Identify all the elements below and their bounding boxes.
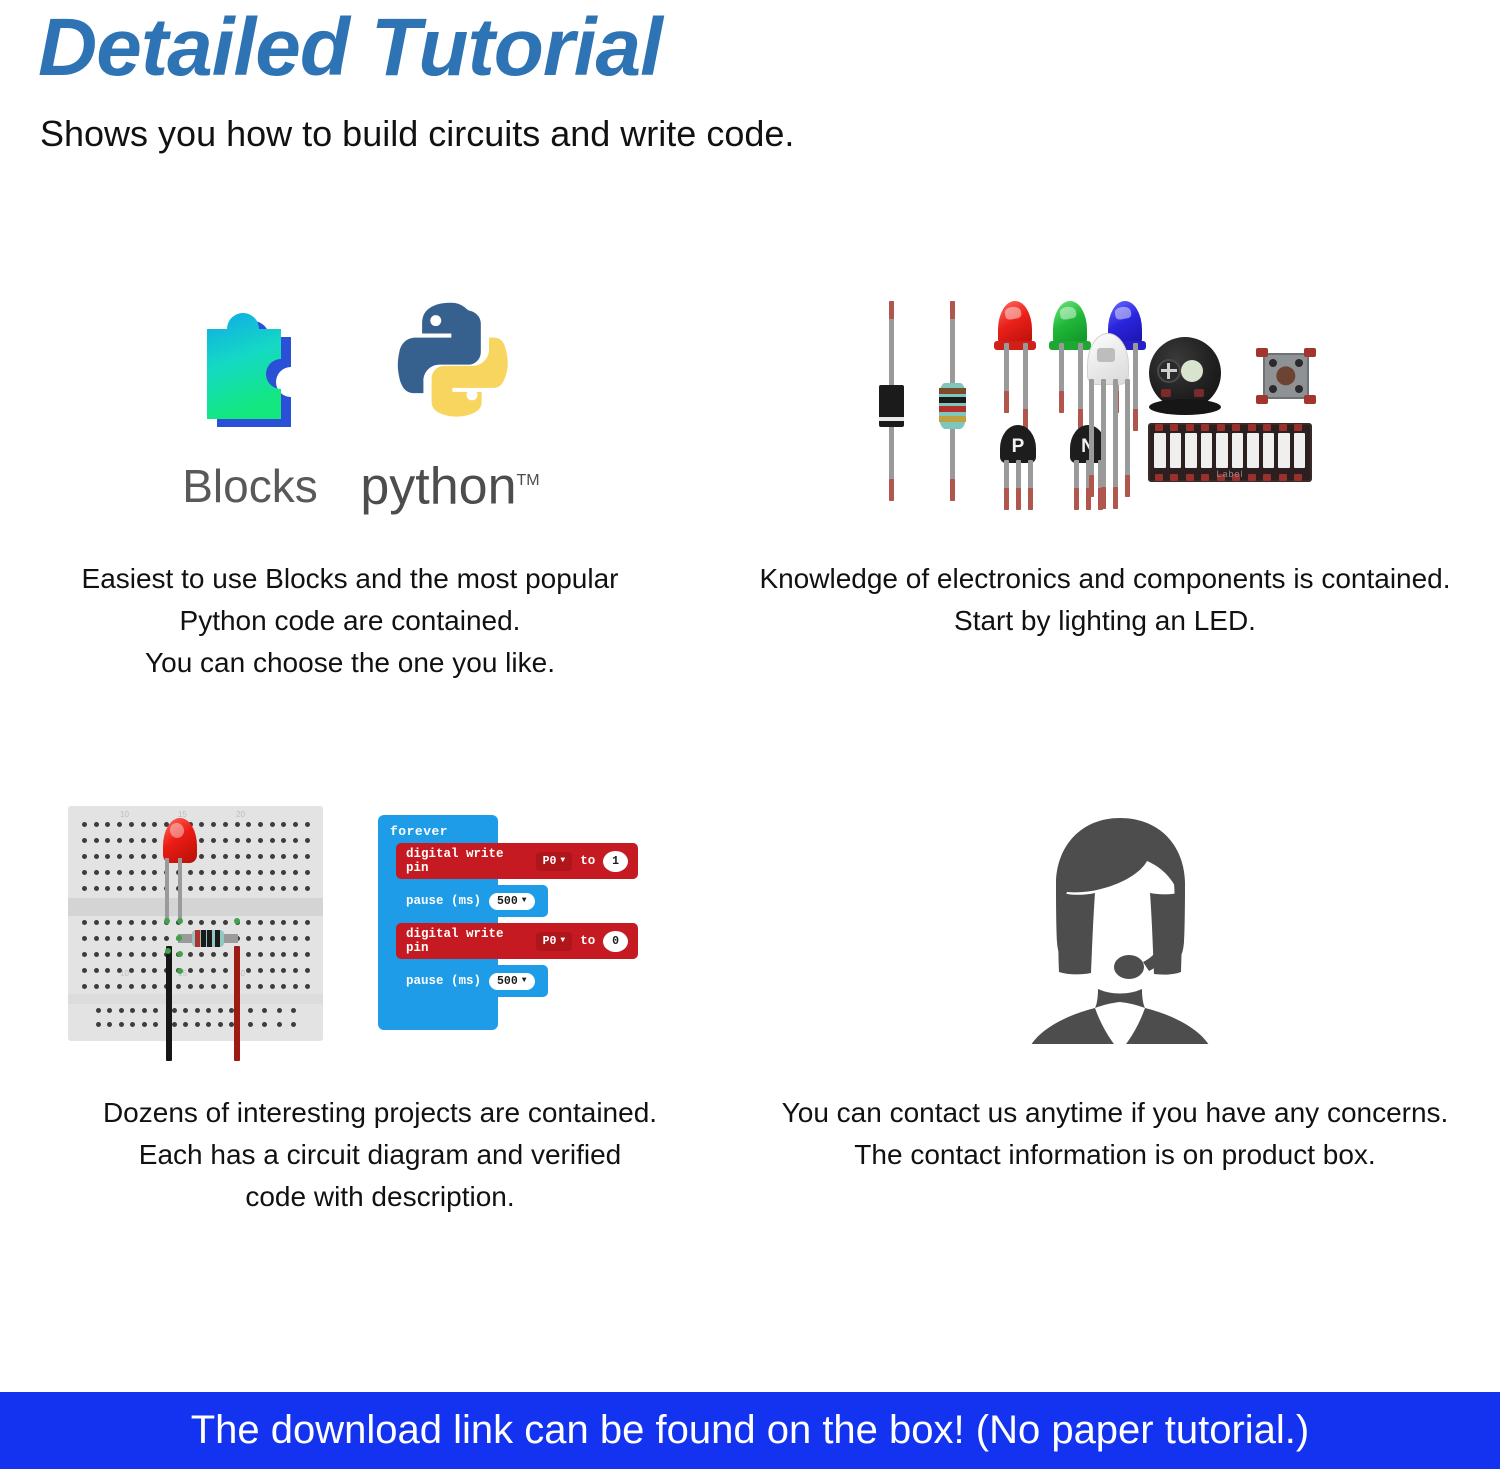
support-caption: You can contact us anytime if you have a…: [760, 1092, 1470, 1176]
digital-write-value[interactable]: 1: [603, 851, 628, 872]
digital-write-value[interactable]: 0: [603, 931, 628, 952]
resistor-body: [939, 383, 966, 429]
breadboard-center-channel: [68, 898, 323, 916]
chevron-down-icon: ▼: [560, 857, 565, 865]
tactile-button-cap: [1276, 366, 1295, 385]
breadboard-hole-row: [82, 984, 310, 989]
caption-line: You can contact us anytime if you have a…: [760, 1092, 1470, 1134]
caption-line: Each has a circuit diagram and verified: [60, 1134, 700, 1176]
blocks-puzzle-icon: [175, 295, 325, 455]
digital-write-block[interactable]: digital write pin P0▼ to 0: [396, 923, 638, 959]
digital-write-label: digital write pin: [406, 847, 528, 875]
caption-line: Dozens of interesting projects are conta…: [60, 1092, 700, 1134]
pause-block[interactable]: pause (ms) 500▼: [396, 885, 548, 917]
blue-led-lead: [1133, 343, 1138, 431]
digital-write-block[interactable]: digital write pin P0▼ to 1: [396, 843, 638, 879]
python-logo-text: python: [360, 457, 516, 515]
pin-dropdown[interactable]: P0▼: [536, 932, 573, 951]
support-agent-glyph: [1000, 812, 1240, 1044]
rgb-led-lead: [1113, 379, 1118, 509]
python-trademark: TM: [517, 472, 540, 489]
pnp-lead: [1004, 460, 1009, 510]
caption-line: code with description.: [60, 1176, 700, 1218]
tutorial-page: Detailed Tutorial Shows you how to build…: [0, 0, 1500, 1469]
pnp-lead: [1016, 460, 1021, 510]
chevron-down-icon: ▼: [560, 937, 565, 945]
forever-block-label: forever: [390, 824, 448, 839]
red-led-lead: [1023, 343, 1028, 431]
programming-logos-group: Blocks pythonTM: [150, 295, 580, 510]
caption-line: Start by lighting an LED.: [740, 600, 1470, 642]
breadboard-hole-row: [82, 968, 310, 973]
red-led-lead: [1004, 343, 1009, 413]
to-label: to: [580, 854, 595, 868]
pause-label: pause (ms): [406, 974, 481, 988]
pnp-lead: [1028, 460, 1033, 510]
caption-line: Python code are contained.: [40, 600, 660, 642]
caption-line: Easiest to use Blocks and the most popul…: [40, 558, 660, 600]
pin-dropdown[interactable]: P0▼: [536, 852, 573, 871]
python-logo: pythonTM: [355, 295, 545, 510]
caption-line: The contact information is on product bo…: [760, 1134, 1470, 1176]
rgb-led-dome: [1087, 333, 1127, 383]
rgb-led-lead: [1101, 379, 1106, 509]
green-led: [1053, 301, 1087, 347]
green-led-lead: [1078, 343, 1083, 431]
breadboard-hole-row: [82, 920, 310, 925]
page-subtitle: Shows you how to build circuits and writ…: [40, 108, 794, 160]
rgb-led-lead: [1089, 379, 1094, 497]
download-banner: The download link can be found on the bo…: [0, 1392, 1500, 1469]
breadboard-rail-row: [172, 1022, 234, 1027]
rgb-led-lead: [1125, 379, 1130, 497]
breadboard-hole-row: [82, 952, 310, 957]
led-bar-graph: Label: [1148, 423, 1312, 482]
buzzer: [1149, 337, 1221, 409]
led-anode-leg: [165, 858, 169, 920]
breadboard-rail-row: [96, 1022, 158, 1027]
blocks-python-caption: Easiest to use Blocks and the most popul…: [40, 558, 660, 684]
pnp-transistor: P: [1000, 425, 1036, 463]
diode-cathode-band: [879, 417, 904, 421]
breadboard-resistor: [178, 934, 238, 943]
pause-value-dropdown[interactable]: 500▼: [489, 973, 535, 990]
green-led-lead: [1059, 343, 1064, 413]
pause-value: 500: [497, 895, 518, 908]
caption-line: You can choose the one you like.: [40, 642, 660, 684]
pause-block[interactable]: pause (ms) 500▼: [396, 965, 548, 997]
download-banner-text: The download link can be found on the bo…: [0, 1392, 1500, 1469]
to-label: to: [580, 934, 595, 948]
black-jumper-wire: [166, 946, 172, 1061]
breadboard-rail-row: [248, 1022, 296, 1027]
blocks-logo: Blocks: [175, 295, 325, 510]
python-snake-icon: [355, 295, 545, 450]
electronic-components-group: P N: [865, 295, 1285, 510]
breadboard-rail-row: [96, 1008, 158, 1013]
pause-label: pause (ms): [406, 894, 481, 908]
breadboard-red-led: [163, 818, 197, 863]
breadboard-hole-row: [82, 886, 310, 891]
breadboard-led-circuit: 10 15 20 10 15 20: [68, 806, 323, 1041]
pause-value: 500: [497, 975, 518, 988]
python-logo-label: pythonTM: [355, 457, 545, 510]
breadboard-column-number: 20: [236, 810, 245, 819]
breadboard-hole-row: [82, 870, 310, 875]
buzzer-polarity-mark: [1157, 359, 1181, 383]
pnp-transistor-label: P: [1000, 436, 1036, 458]
led-bar-label: Label: [1150, 469, 1310, 479]
chevron-down-icon: ▼: [522, 897, 527, 905]
npn-lead: [1074, 460, 1079, 510]
breadboard-rail-row: [172, 1008, 234, 1013]
page-title: Detailed Tutorial: [38, 0, 662, 96]
red-jumper-wire: [234, 946, 240, 1061]
tactile-button: [1263, 353, 1309, 399]
buzzer-sound-hole: [1181, 360, 1203, 382]
led-cathode-leg: [178, 858, 182, 920]
pause-value-dropdown[interactable]: 500▼: [489, 893, 535, 910]
components-caption: Knowledge of electronics and components …: [740, 558, 1470, 642]
red-led: [998, 301, 1032, 347]
digital-write-label: digital write pin: [406, 927, 528, 955]
blocks-logo-label: Blocks: [175, 462, 325, 510]
breadboard-column-number: 10: [120, 810, 129, 819]
makecode-blocks: forever digital write pin P0▼ to 1 pause…: [378, 815, 638, 1030]
breadboard-rail-row: [248, 1008, 296, 1013]
pin-value: P0: [543, 935, 557, 948]
projects-caption: Dozens of interesting projects are conta…: [60, 1092, 700, 1218]
support-agent-icon: [1000, 812, 1240, 1044]
chevron-down-icon: ▼: [522, 977, 527, 985]
pin-value: P0: [543, 855, 557, 868]
caption-line: Knowledge of electronics and components …: [740, 558, 1470, 600]
